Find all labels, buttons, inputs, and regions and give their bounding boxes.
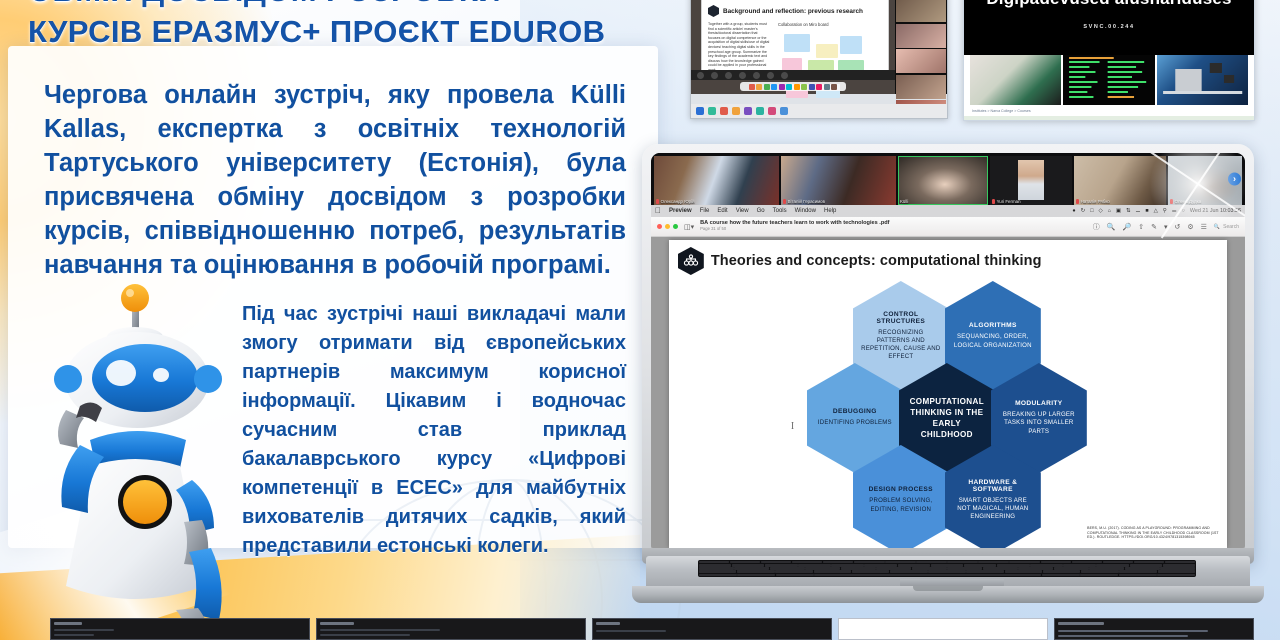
laptop-lid: Олександр Юрій Віталій Герасимов Külli: [642, 144, 1254, 562]
timemachine-icon[interactable]: ↻: [1081, 208, 1086, 214]
inset-board-label: Collaboration on Miro board: [778, 22, 882, 27]
menu-item-go[interactable]: Go: [757, 208, 765, 214]
hexagon-label: DESIGN PROCESS: [869, 486, 933, 493]
inset-share-area: Background and reflection: previous rese…: [691, 0, 895, 94]
hexagon-desc: PROBLEM SOLVING, EDITING, REVISION: [861, 497, 941, 513]
hexagon-label: COMPUTATIONAL THINKING IN THE EARLY CHIL…: [907, 396, 987, 440]
battery-icon[interactable]: ■: [1145, 208, 1148, 214]
wifi-icon[interactable]: △: [1154, 208, 1158, 214]
minimize-icon: [665, 224, 670, 229]
miro-board-mock: [778, 30, 882, 102]
slide-thumbnail-strip: [0, 618, 1280, 640]
menubar-status-icons: ● ↻ □ ◇ ⌂ ▣ ⇅ ⚊ ■ △ ⚲ ⚌ ○ Wed 21 Jun 10:…: [1072, 208, 1241, 214]
page-title: ОБМІН ДОСВІДОМ РОЗРОБКИ КУРСІВ ЕРАЗМУС+ …: [28, 0, 648, 52]
hexagon-label: HARDWARE & SOFTWARE: [953, 479, 1033, 493]
course-code: SVNC.00.244: [964, 24, 1254, 30]
siri-icon[interactable]: ○: [1182, 208, 1185, 214]
photo-child-tablet: [970, 55, 1061, 105]
menu-item-preview[interactable]: Preview: [669, 208, 692, 214]
close-icon: [657, 224, 662, 229]
slide-thumb-4[interactable]: [838, 618, 1048, 640]
search-placeholder: Search: [1223, 224, 1239, 230]
preview-toolbar: ◫▾ BA course how the future teachers lea…: [651, 217, 1245, 237]
university-hexagon-logo-icon: [678, 247, 704, 275]
participant-name: Yuri Ferman: [992, 199, 1021, 204]
preview-app-window: ◫▾ BA course how the future teachers lea…: [651, 217, 1245, 548]
inset-shared-slide: Background and reflection: previous rese…: [701, 0, 889, 72]
laptop-screen: Олександр Юрій Віталій Герасимов Külli: [651, 153, 1245, 548]
annotate-icon[interactable]: ⚙: [1187, 223, 1193, 231]
hexagon-logo-icon: [708, 5, 719, 17]
preview-tool-icons: ⓘ 🔍 🔎 ⇧ ✎ ▾ ↺ ⚙ ☰ 🔍 Search: [1093, 222, 1239, 232]
zoom-status-icon[interactable]: ●: [1072, 208, 1075, 214]
laptop-device: Олександр Юрій Віталій Герасимов Külli: [628, 144, 1268, 614]
laptop-keyboard[interactable]: [698, 560, 1196, 577]
inset-dock: [740, 82, 846, 91]
course-photo-row: [964, 55, 1254, 105]
inset-taskbar: [691, 104, 947, 118]
hexagon-label: ALGORITHMS: [969, 322, 1017, 329]
hexagon-desc: SEQUANCING, ORDER, LOGICAL ORGANIZATION: [953, 333, 1033, 349]
inset-participant-column: [895, 0, 947, 94]
mic-muted-icon: [656, 199, 659, 203]
hexagon-desc: RECOGNIZING PATTERNS AND REPETITION, CAU…: [861, 329, 941, 362]
hexagon-label: CONTROL STRUCTURES: [861, 311, 941, 325]
hexagon-desc: IDENTIFING PROBLEMS: [818, 419, 892, 427]
rotate-icon[interactable]: ↺: [1174, 223, 1180, 231]
participant-name: Külli: [900, 199, 908, 204]
course-notice-bar: [964, 116, 1254, 121]
document-title: BA course how the future teachers learn …: [700, 221, 889, 227]
hexagon-label: DEBUGGING: [833, 408, 877, 415]
participant-tile[interactable]: Віталій Герасимов: [781, 156, 896, 205]
hexagon-desc: BREAKING UP LARGER TASKS INTO SMALLER PA…: [999, 411, 1079, 436]
mic-muted-icon: [1076, 199, 1079, 203]
slide-thumb-3[interactable]: [592, 618, 832, 640]
share-icon[interactable]: ⇧: [1138, 223, 1144, 231]
participant-name: Олена Дудка: [1170, 199, 1201, 204]
participant-tile-active-speaker[interactable]: Külli: [898, 156, 988, 205]
menu-item-help[interactable]: Help: [824, 208, 836, 214]
mic-muted-icon: [1170, 199, 1173, 203]
pdf-canvas[interactable]: Theories and concepts: computational thi…: [651, 237, 1245, 548]
course-breadcrumb: Institutes > Narva College > Courses: [964, 105, 1254, 113]
search-field[interactable]: 🔍 Search: [1214, 224, 1239, 230]
pdf-page: Theories and concepts: computational thi…: [669, 240, 1227, 548]
photo-arduino-board: [1157, 55, 1248, 105]
slide-canvas: ОБМІН ДОСВІДОМ РОЗРОБКИ КУРСІВ ЕРАЗМУС+ …: [0, 0, 1280, 640]
body-paragraph-2: Під час зустрічі наші викладачі мали змо…: [242, 300, 626, 561]
participant-tile[interactable]: Олександр Юрій: [654, 156, 779, 205]
dropbox-icon[interactable]: ◇: [1098, 208, 1102, 214]
participant-name: Віталій Герасимов: [783, 199, 825, 204]
inset-slide-heading: Background and reflection: previous rese…: [708, 5, 882, 17]
controlcenter-icon[interactable]: ⚌: [1172, 208, 1177, 214]
sidebar-toggle-icon[interactable]: ◫▾: [684, 223, 694, 231]
inset-zoom-miro-screenshot: Background and reflection: previous rese…: [690, 0, 948, 119]
zoom-out-icon[interactable]: 🔍: [1107, 223, 1116, 231]
zoom-in-icon[interactable]: 🔎: [1123, 223, 1132, 231]
slide-thumb-1[interactable]: [50, 618, 310, 640]
zoom-participant-strip: Олександр Юрій Віталій Герасимов Külli: [651, 153, 1245, 205]
title-line-1: ОБМІН ДОСВІДОМ РОЗРОБКИ: [28, 0, 648, 11]
photo-code-terminal: [1063, 55, 1154, 105]
menu-item-file[interactable]: File: [700, 208, 710, 214]
bluetooth-icon[interactable]: ⇅: [1126, 208, 1131, 214]
inset-zoom-controls: [691, 70, 895, 80]
search-icon: 🔍: [1214, 224, 1220, 230]
keyboard-icon[interactable]: ⚊: [1136, 208, 1141, 214]
chevron-down-icon[interactable]: ▾: [1164, 223, 1168, 231]
slide-header: Theories and concepts: computational thi…: [669, 240, 1227, 275]
participant-tile[interactable]: Наталія Рябко: [1074, 156, 1166, 205]
mic-muted-icon: [783, 199, 786, 203]
info-icon[interactable]: ⓘ: [1093, 222, 1100, 232]
course-banner: Digipädevused alushariduses SVNC.00.244: [964, 0, 1254, 55]
page-status: Page 31 of 50: [700, 227, 889, 231]
slide-citation: BERS, M.U. (2017). CODING AS A PLAYGROUN…: [1087, 526, 1219, 540]
participant-name: Олександр Юрій: [656, 199, 695, 204]
menu-item-window[interactable]: Window: [795, 208, 816, 214]
slide-thumb-2[interactable]: [316, 618, 586, 640]
title-line-2: КУРСІВ ЕРАЗМУС+ ПРОЄКТ EDUROB: [28, 11, 648, 52]
text-cursor: I: [791, 421, 794, 432]
laptop-base-top: [646, 556, 1250, 586]
mac-menubar:  Preview File Edit View Go Tools Window…: [651, 205, 1245, 217]
mic-muted-icon: [992, 199, 995, 203]
markup-icon[interactable]: ✎: [1151, 223, 1157, 231]
body-paragraph-1: Чергова онлайн зустріч, яку провела Küll…: [44, 78, 626, 282]
home-icon[interactable]: ⌂: [1108, 208, 1111, 214]
hexagon-label: MODULARITY: [1015, 400, 1062, 407]
preview-document-info: BA course how the future teachers learn …: [700, 221, 889, 231]
apple-menu-icon[interactable]: : [655, 207, 661, 215]
laptop-base-notch: [913, 586, 983, 591]
hexagon-desc: SMART OBJECTS ARE NOT MAGICAL, HUMAN ENG…: [953, 497, 1033, 522]
screen-icon[interactable]: ▣: [1116, 208, 1121, 214]
slide-thumb-5[interactable]: [1054, 618, 1254, 640]
menubar-clock[interactable]: Wed 21 Jun 10:03:56: [1190, 208, 1241, 214]
participant-name: Наталія Рябко: [1076, 199, 1110, 204]
computational-thinking-hexagon-diagram: CONTROL STRUCTURES RECOGNIZING PATTERNS …: [669, 273, 1227, 489]
zoom-icon: [673, 224, 678, 229]
slide-title: Theories and concepts: computational thi…: [711, 253, 1042, 269]
robot-mascot: [6, 280, 256, 640]
inset-moodle-screenshot: Digipädevused alushariduses SVNC.00.244: [963, 0, 1255, 121]
window-traffic-lights[interactable]: [657, 224, 678, 229]
menu-item-view[interactable]: View: [736, 208, 749, 214]
menu-item-edit[interactable]: Edit: [717, 208, 727, 214]
list-icon[interactable]: ☰: [1201, 223, 1207, 231]
participant-tile[interactable]: Yuri Ferman: [990, 156, 1072, 205]
course-banner-title: Digipädevused alushariduses: [964, 0, 1254, 9]
laptop-base: [628, 556, 1268, 614]
next-participants-button[interactable]: ›: [1228, 173, 1241, 186]
display-icon[interactable]: □: [1090, 208, 1093, 214]
menu-item-tools[interactable]: Tools: [773, 208, 787, 214]
inset-slide-title: Background and reflection: previous rese…: [723, 8, 863, 15]
spotlight-icon[interactable]: ⚲: [1163, 208, 1167, 214]
